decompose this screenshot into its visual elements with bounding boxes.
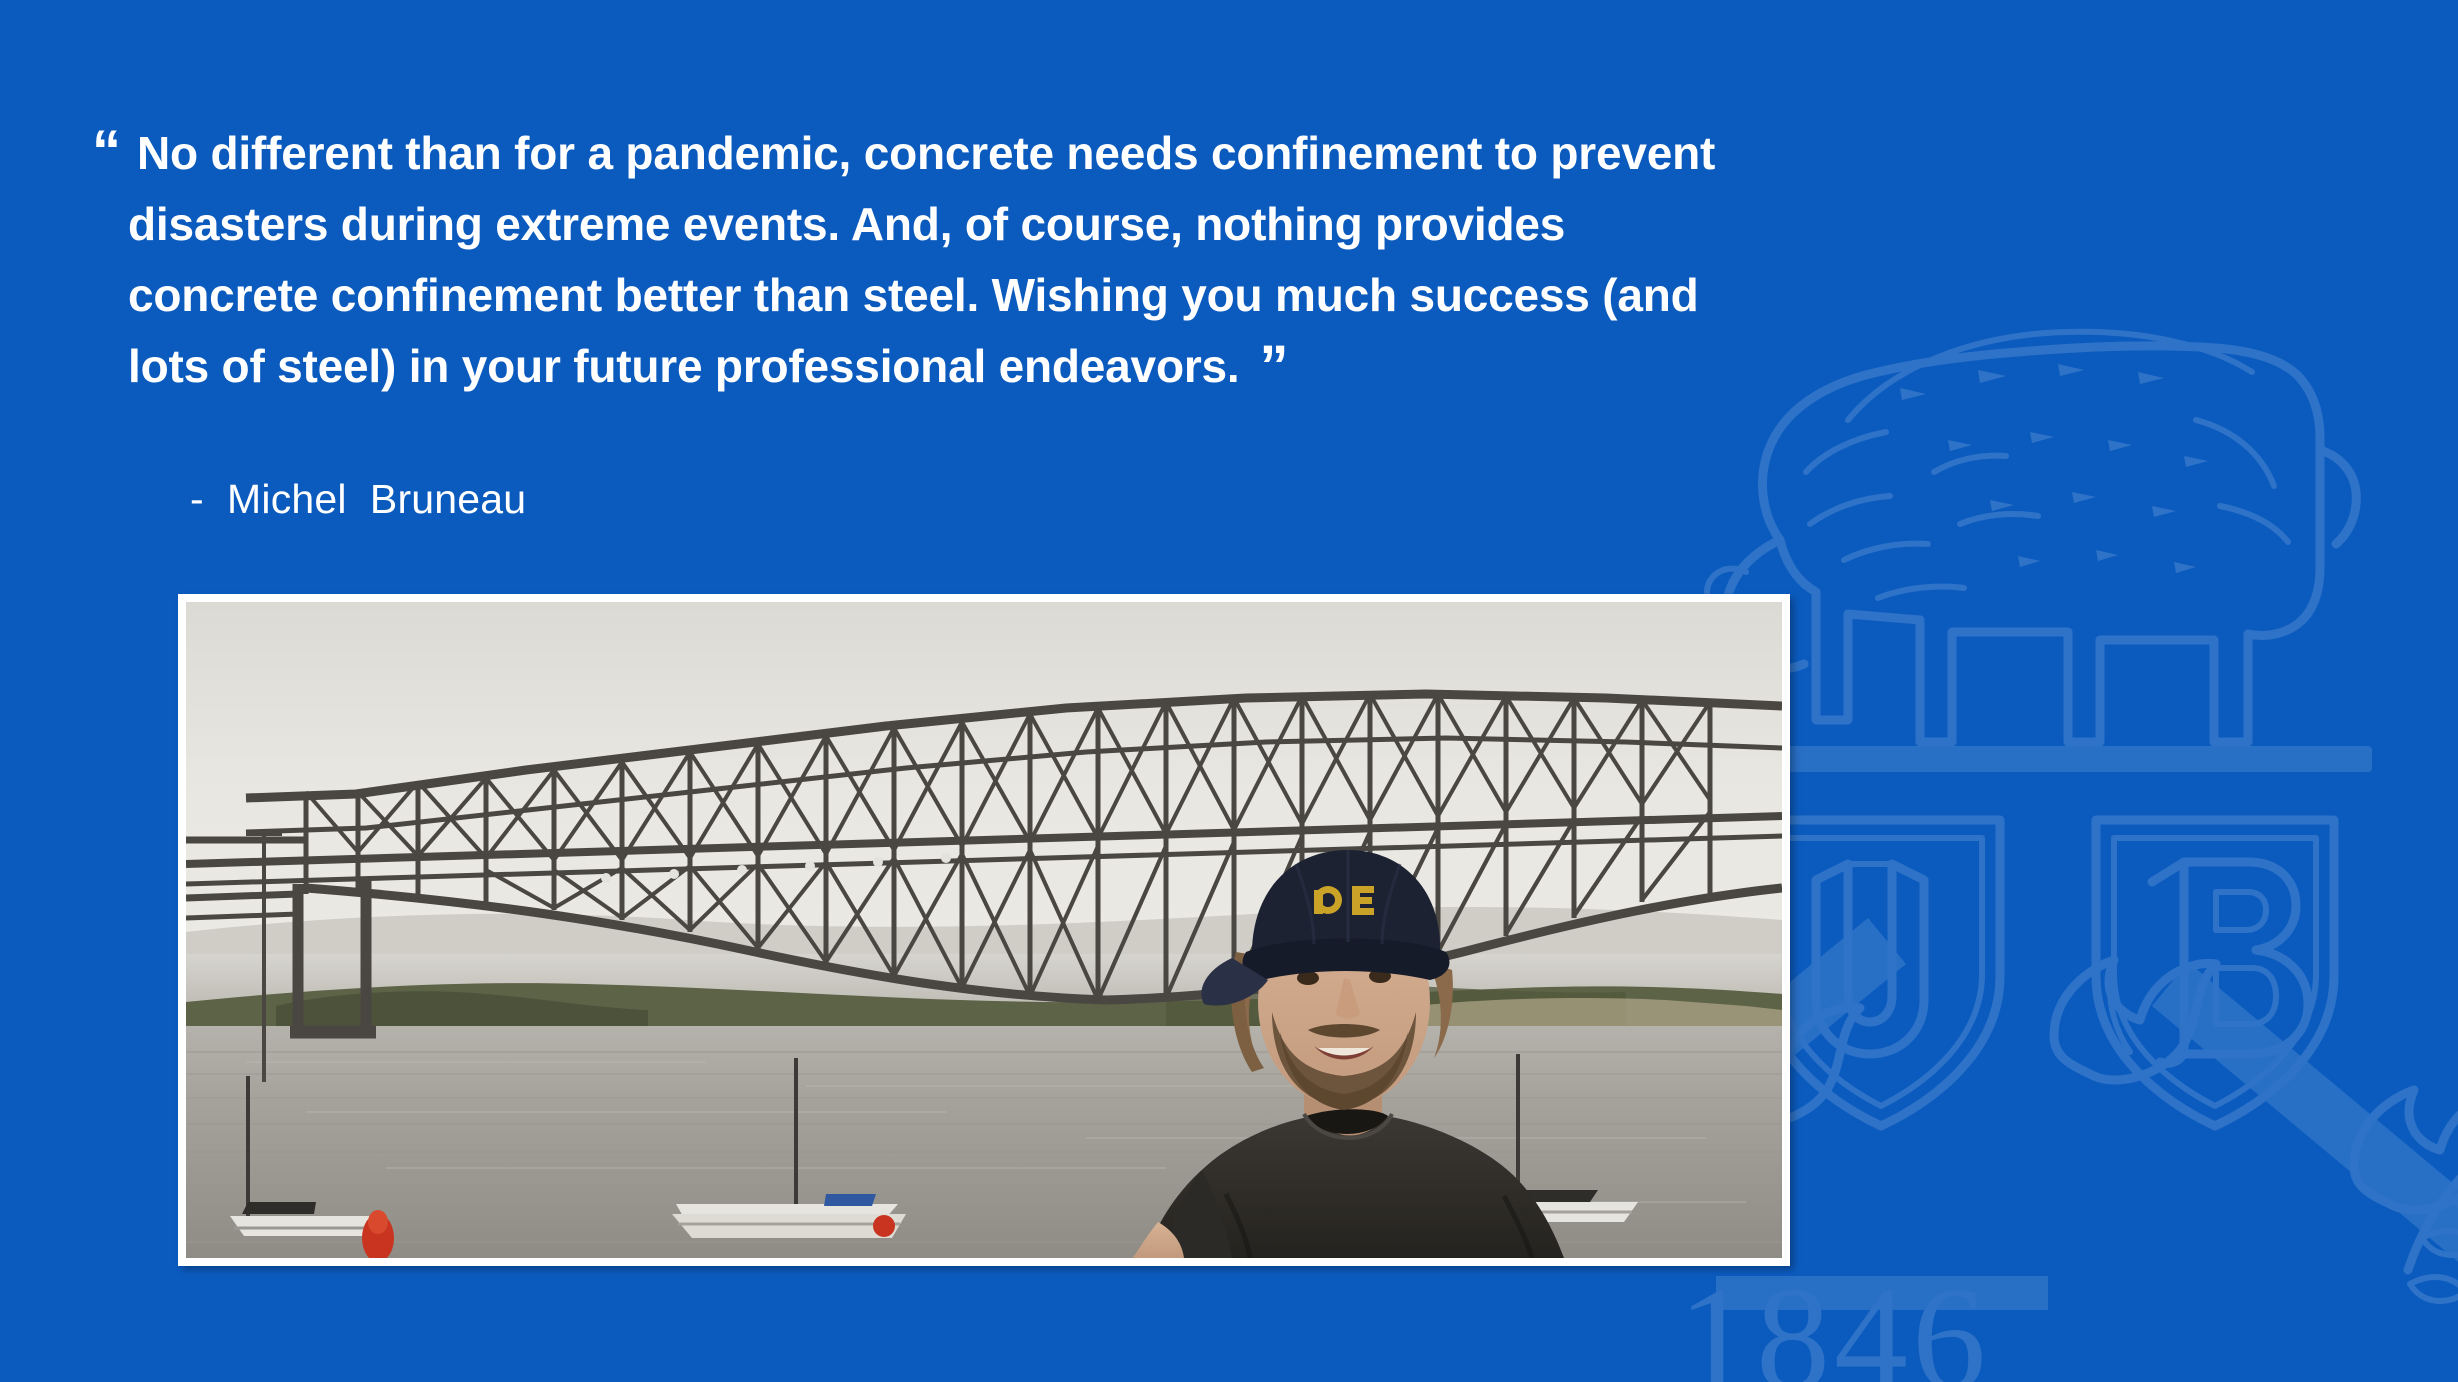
tulip-ornaments (1698, 960, 2458, 1210)
laurel-leaves (2408, 1143, 2458, 1372)
quote-line-3-text: concrete confinement better than steel. … (128, 269, 1699, 321)
quote-attribution: - Michel Bruneau (190, 476, 526, 523)
slide-canvas: .wm-st { fill: none; stroke: #2E73C7; st… (0, 0, 2458, 1382)
photo-frame (178, 594, 1790, 1266)
shield-u (1762, 820, 2000, 1126)
quote-line-4: lots of steel) in your future profession… (92, 331, 2272, 402)
quote-line-3: concrete confinement better than steel. … (92, 260, 2272, 331)
quote-line-1: “No different than for a pandemic, concr… (92, 118, 2272, 189)
quote-line-4-text: lots of steel) in your future profession… (128, 340, 1240, 392)
quote-line-2-text: disasters during extreme events. And, of… (128, 198, 1565, 250)
seal-plinth (1744, 746, 2372, 772)
quote-block: “No different than for a pandemic, concr… (92, 118, 2272, 402)
photo-quebec-bridge-portrait (186, 602, 1782, 1258)
seal-year: 1846 (1678, 1257, 1990, 1382)
quote-line-2: disasters during extreme events. And, of… (92, 189, 2272, 260)
shield-b (2096, 820, 2334, 1126)
quote-line-1-text: No different than for a pandemic, concre… (137, 127, 1715, 179)
